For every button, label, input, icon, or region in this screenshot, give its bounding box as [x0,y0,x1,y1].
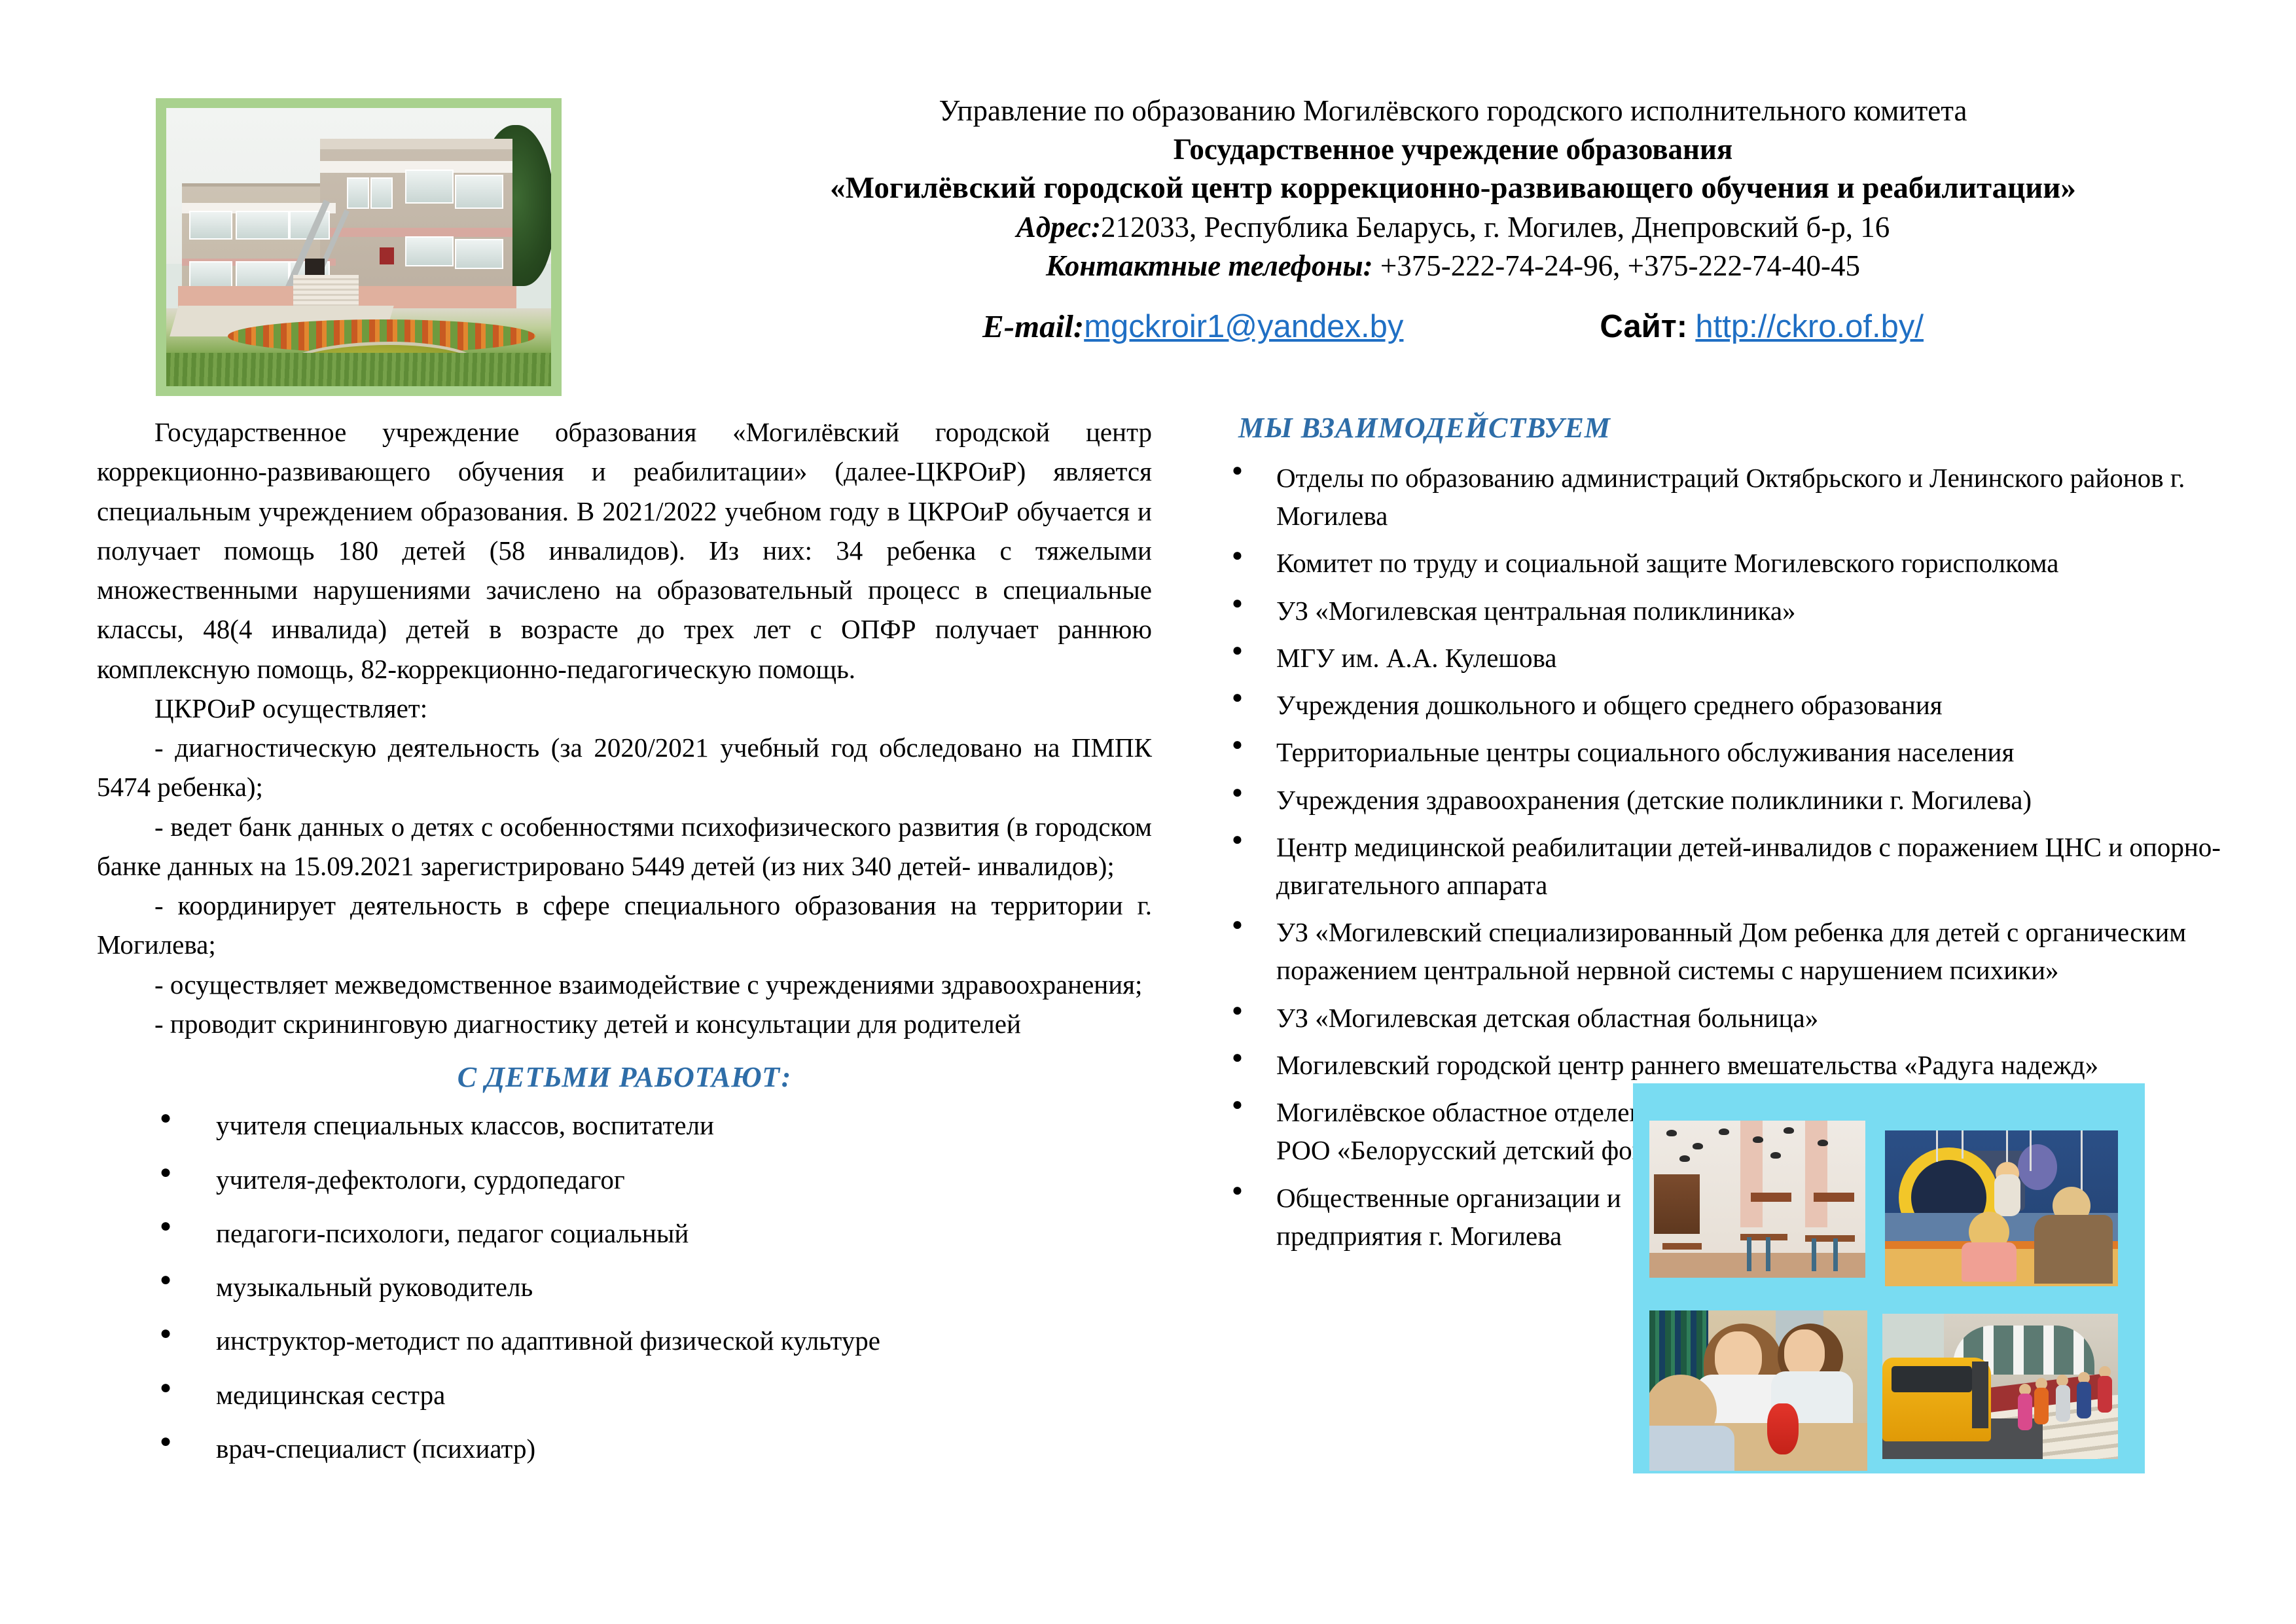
header-title-block: Управление по образованию Могилёвского г… [668,92,2238,285]
list-item: врач-специалист (психиатр) [97,1429,1152,1468]
email-link[interactable]: mgckroir1@yandex.by [1084,309,1403,344]
list-item: учителя-дефектологи, сурдопедагог [97,1160,1152,1199]
staff-list: учителя специальных классов, воспитатели… [97,1106,1152,1468]
paragraph-activities-intro: ЦКРОиР осуществляет: [97,689,1152,728]
paragraph-activity-database: - ведет банк данных о детях с особенност… [97,807,1152,886]
psychologist-with-child-photo [1649,1310,1867,1471]
paragraph-activity-coordination: - координирует деятельность в сфере спец… [97,886,1152,965]
list-item: медицинская сестра [97,1375,1152,1415]
list-item: Учреждения здравоохранения (детские поли… [1229,781,2240,819]
header-line-institution-name: «Могилёвский городской центр коррекционн… [668,168,2238,208]
email-label: E-mail: [982,308,1084,344]
address-label: Адрес: [1016,211,1101,244]
site-cell: Сайт: http://ckro.of.by/ [1600,308,1924,345]
email-cell: E-mail:mgckroir1@yandex.by [982,308,1403,345]
school-building-photo [166,108,551,386]
list-item: МГУ им. А.А. Кулешова [1229,639,2240,677]
phones-label: Контактные телефоны: [1046,249,1373,282]
list-item: Отделы по образованию администраций Октя… [1229,459,2240,535]
site-link[interactable]: http://ckro.of.by/ [1695,309,1924,344]
contact-row: E-mail:mgckroir1@yandex.by Сайт: http://… [668,308,2238,345]
paragraph-overview: Государственное учреждение образования «… [97,412,1152,689]
document-header: Управление по образованию Могилёвского г… [0,0,2296,393]
list-item: Комитет по труду и социальной защите Мог… [1229,544,2240,582]
building-photo-frame [156,98,562,396]
list-item: Могилёвское областное отделение РОО «Бел… [1229,1093,1682,1169]
partners-section-heading: МЫ ВЗАИМОДЕЙСТВУЕМ [1238,411,2240,444]
list-item: Общественные организации и предприятия г… [1229,1179,1682,1255]
list-item: Территориальные центры социального обслу… [1229,733,2240,771]
classroom-photo [1649,1121,1865,1278]
list-item: Учреждения дошкольного и общего среднего… [1229,686,2240,724]
staff-section-heading: С ДЕТЬМИ РАБОТАЮТ: [97,1060,1152,1094]
list-item: УЗ «Могилевская детская областная больни… [1229,999,2240,1037]
phones-value: +375-222-74-24-96, +375-222-74-40-45 [1380,249,1860,282]
photo-collage [1633,1083,2145,1473]
list-item: учителя специальных классов, воспитатели [97,1106,1152,1145]
list-item: инструктор-методист по адаптивной физиче… [97,1321,1152,1360]
paragraph-activity-diagnostics: - диагностическую деятельность (за 2020/… [97,728,1152,807]
header-line-address: Адрес:212033, Республика Беларусь, г. Мо… [668,208,2238,247]
school-bus-and-entrance-photo [1882,1314,2118,1459]
list-item: Центр медицинской реабилитации детей-инв… [1229,828,2240,904]
left-column: Государственное учреждение образования «… [97,412,1152,1483]
address-value: 212033, Республика Беларусь, г. Могилев,… [1101,211,1890,244]
header-line-institution-type: Государственное учреждение образования [668,130,2238,169]
sensory-room-therapy-photo [1885,1130,2118,1286]
paragraph-activity-interagency: - осуществляет межведомственное взаимоде… [97,965,1152,1004]
header-line-department: Управление по образованию Могилёвского г… [668,92,2238,130]
list-item: музыкальный руководитель [97,1267,1152,1307]
paragraph-activity-screening: - проводит скрининговую диагностику дете… [97,1004,1152,1043]
header-line-phones: Контактные телефоны: +375-222-74-24-96, … [668,247,2238,285]
list-item: УЗ «Могилевский специализированный Дом р… [1229,913,2240,989]
site-label: Сайт: [1600,309,1687,344]
list-item: УЗ «Могилевская центральная поликлиника» [1229,592,2240,630]
list-item: педагоги-психологи, педагог социальный [97,1214,1152,1253]
list-item: Могилевский городской центр раннего вмеш… [1229,1046,2240,1084]
